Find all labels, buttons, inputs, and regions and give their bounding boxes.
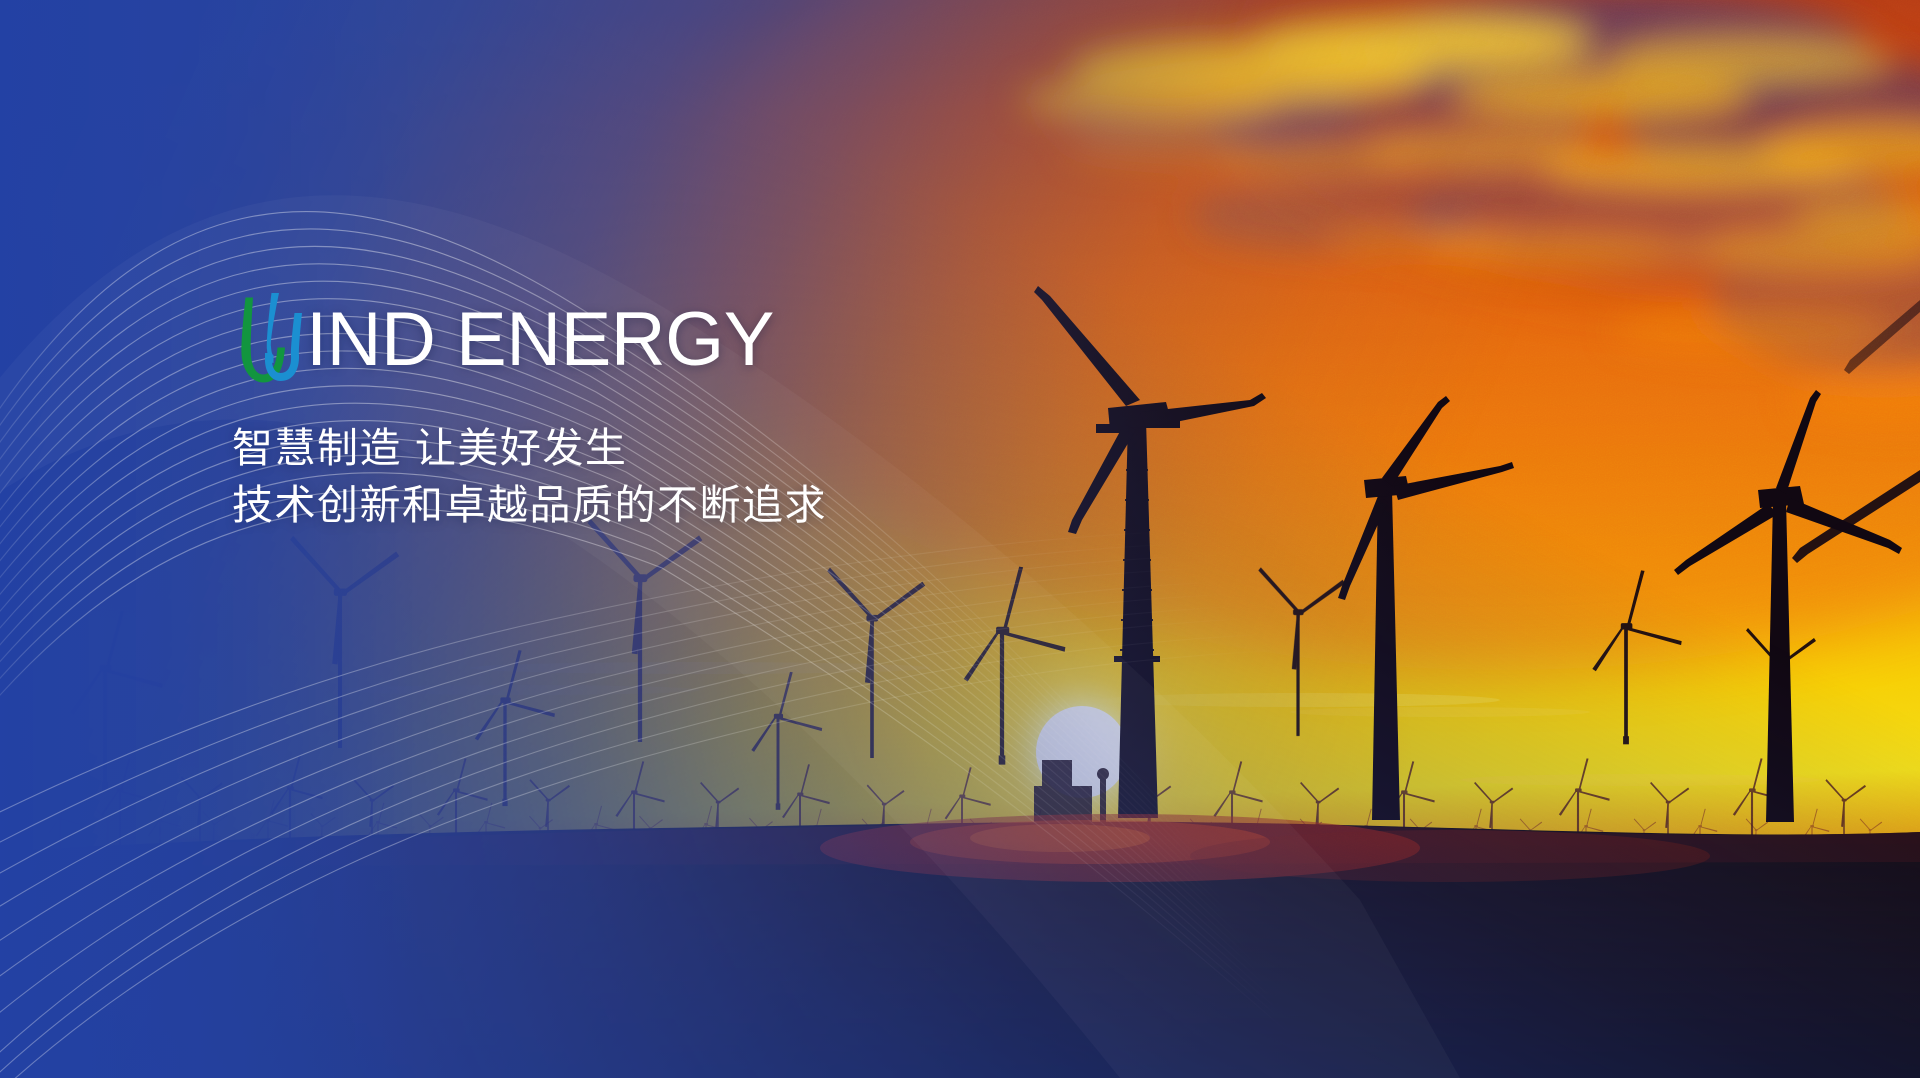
brand-lockup: IND ENERGY	[232, 288, 1132, 392]
hero-banner: IND ENERGY 智慧制造 让美好发生 技术创新和卓越品质的不断追求	[0, 0, 1920, 1078]
wind-w-logo-icon	[232, 291, 316, 389]
brand-wordmark: IND ENERGY	[306, 302, 774, 378]
decorative-wave-lines	[0, 0, 1920, 1078]
tagline-primary: 智慧制造 让美好发生	[232, 420, 1132, 477]
hero-copy-block: IND ENERGY 智慧制造 让美好发生 技术创新和卓越品质的不断追求	[232, 288, 1132, 534]
tagline-secondary: 技术创新和卓越品质的不断追求	[232, 477, 1132, 534]
